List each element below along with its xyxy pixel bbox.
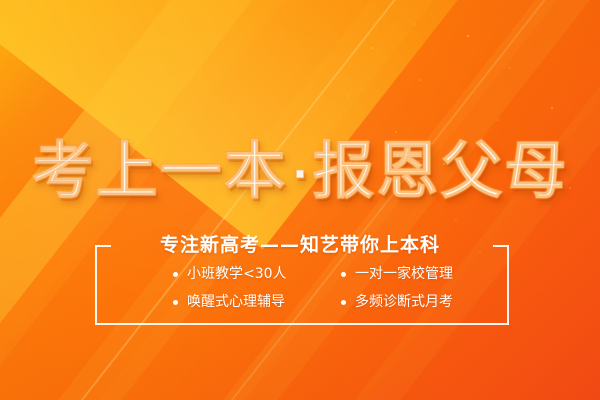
- list-item-label: 小班教学<30人: [187, 262, 287, 286]
- frame-edge: [95, 245, 97, 325]
- list-item: 多频诊断式月考: [341, 290, 509, 314]
- headline: 考上一本·报恩父母: [0, 136, 600, 210]
- list-item-label: 唤醒式心理辅导: [187, 290, 285, 314]
- frame-edge: [507, 245, 509, 325]
- bullet-dot-icon: [341, 300, 346, 305]
- list-item: 一对一家校管理: [341, 262, 509, 286]
- frame-edge: [95, 323, 509, 325]
- headline-separator: ·: [288, 149, 313, 200]
- list-item-label: 一对一家校管理: [355, 262, 453, 286]
- feature-list: 小班教学<30人 一对一家校管理 唤醒式心理辅导 多频诊断式月考: [95, 262, 509, 314]
- list-item: 唤醒式心理辅导: [173, 290, 341, 314]
- frame-edge: [95, 245, 111, 247]
- bullet-dot-icon: [173, 272, 178, 277]
- subtitle: 专注新高考——知艺带你上本科: [0, 232, 600, 258]
- list-item-label: 多频诊断式月考: [355, 290, 453, 314]
- headline-right: 报恩父母: [312, 134, 568, 207]
- list-item: 小班教学<30人: [173, 262, 341, 286]
- headline-left: 考上一本: [32, 134, 288, 207]
- bullet-dot-icon: [173, 300, 178, 305]
- bullet-dot-icon: [341, 272, 346, 277]
- frame-edge: [493, 245, 509, 247]
- banner-content: 考上一本·报恩父母 专注新高考——知艺带你上本科 小班教学<30人 一对一家校管…: [0, 0, 600, 400]
- promo-banner: 考上一本·报恩父母 专注新高考——知艺带你上本科 小班教学<30人 一对一家校管…: [0, 0, 600, 400]
